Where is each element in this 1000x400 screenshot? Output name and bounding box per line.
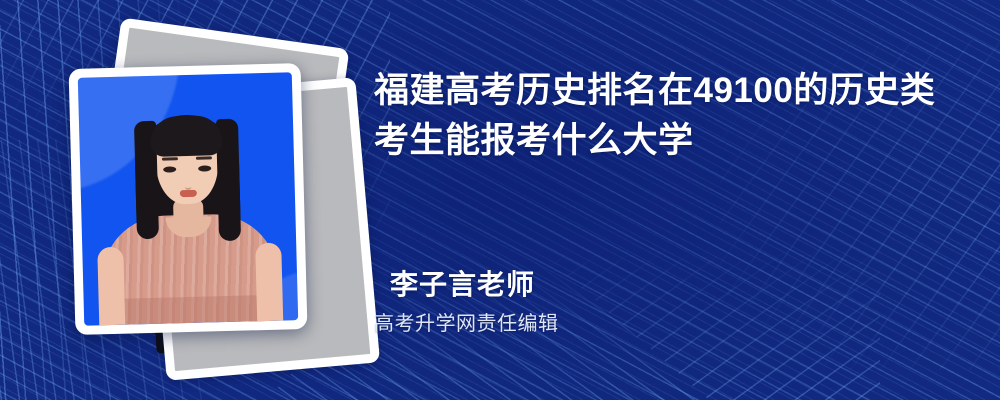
- author-role: 高考升学网责任编辑: [374, 312, 559, 336]
- portrait-eye-left: [163, 166, 176, 172]
- author-block: 李子言老师 高考升学网责任编辑: [390, 268, 559, 336]
- portrait-lips: [180, 190, 197, 197]
- article-banner: 福建高考历史排名在49100的历史类考生能报考什么大学 李子言老师 高考升学网责…: [0, 0, 1000, 400]
- author-name: 李子言老师: [390, 268, 559, 302]
- portrait-illustration: [78, 72, 298, 326]
- portrait-arm-left: [97, 247, 125, 326]
- portrait-hair-fringe: [150, 115, 223, 157]
- portrait-nose: [185, 180, 192, 190]
- author-photo: [78, 72, 298, 326]
- portrait-waist: [116, 295, 267, 325]
- banner-headline: 福建高考历史排名在49100的历史类考生能报考什么大学: [374, 66, 952, 165]
- portrait-eyebrow-left: [162, 157, 178, 160]
- author-photo-stack: [58, 28, 358, 358]
- portrait-arm-right: [255, 243, 283, 322]
- banner-text-column: 福建高考历史排名在49100的历史类考生能报考什么大学 李子言老师 高考升学网责…: [374, 0, 974, 400]
- portrait-eye-right: [198, 165, 211, 171]
- author-photo-frame: [69, 63, 308, 335]
- portrait-eyebrow-right: [196, 156, 212, 159]
